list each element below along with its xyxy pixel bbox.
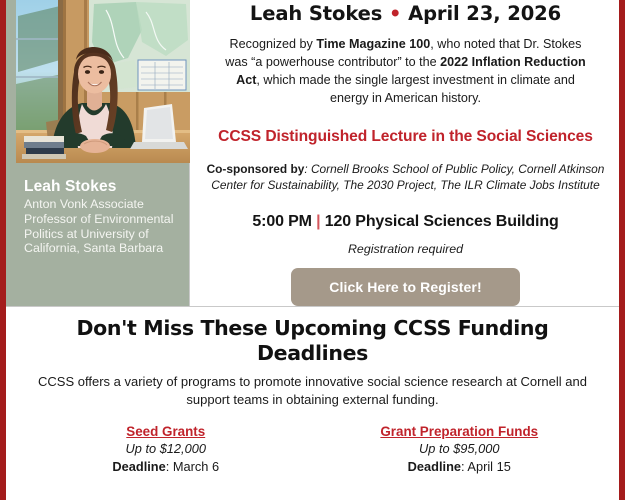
event-headline: Leah Stokes • April 23, 2026 (202, 2, 609, 26)
grant-link[interactable]: Seed Grants (22, 423, 310, 440)
register-button[interactable]: Click Here to Register! (291, 268, 519, 306)
grant-deadline-label: Deadline (112, 459, 165, 474)
cosponsor-label: Co-sponsored by (207, 162, 305, 176)
event-headline-name: Leah Stokes (250, 2, 382, 25)
speaker-info: Leah Stokes Anton Vonk Associate Profess… (24, 178, 184, 256)
grant-link[interactable]: Grant Preparation Funds (316, 423, 604, 440)
grant-deadline-value: : March 6 (166, 459, 219, 474)
funding-grid: Seed Grants Up to $12,000 Deadline: Marc… (22, 423, 603, 500)
lecture-series-title: CCSS Distinguished Lecture in the Social… (202, 128, 609, 146)
speaker-name: Leah Stokes (24, 178, 184, 196)
grant-deadline-label: Deadline (408, 459, 461, 474)
desc-part: Recognized by (230, 37, 317, 51)
cosponsor-line: Co-sponsored by: Cornell Brooks School o… (204, 162, 607, 194)
event-details: Leah Stokes • April 23, 2026 Recognized … (190, 0, 619, 306)
grant-item: Grant Preparation Funds Up to $95,000 De… (316, 423, 604, 475)
funding-title: Don't Miss These Upcoming CCSS Funding D… (22, 316, 603, 365)
newsletter-page: Leah Stokes Anton Vonk Associate Profess… (0, 0, 625, 500)
event-headline-date: April 23, 2026 (408, 2, 561, 25)
registration-note: Registration required (202, 242, 609, 256)
event-location: 120 Physical Sciences Building (325, 213, 559, 230)
speaker-photo (16, 0, 192, 163)
desc-part: , which made the single largest investme… (256, 73, 575, 105)
event-block: Leah Stokes Anton Vonk Associate Profess… (6, 0, 619, 306)
grant-deadline: Deadline: March 6 (22, 458, 310, 475)
speaker-title: Anton Vonk Associate Professor of Enviro… (24, 197, 184, 256)
event-time: 5:00 PM (252, 213, 311, 230)
grant-amount: Up to $95,000 (316, 440, 604, 457)
grant-amount: Up to $12,000 (22, 440, 310, 457)
funding-section: Don't Miss These Upcoming CCSS Funding D… (6, 307, 619, 500)
grant-deadline: Deadline: April 15 (316, 458, 604, 475)
register-button-wrap: Click Here to Register! (202, 268, 609, 306)
desc-part-bold: Time Magazine 100 (316, 37, 430, 51)
bullet-separator-icon: • (389, 2, 401, 25)
speaker-column: Leah Stokes Anton Vonk Associate Profess… (6, 0, 190, 306)
event-description: Recognized by Time Magazine 100, who not… (218, 36, 593, 108)
speaker-photo-image (16, 0, 192, 163)
pipe-separator-icon: | (316, 213, 320, 230)
event-time-location: 5:00 PM | 120 Physical Sciences Building (202, 213, 609, 231)
grant-item: Seed Grants Up to $12,000 Deadline: Marc… (22, 423, 310, 475)
funding-description: CCSS offers a variety of programs to pro… (36, 373, 589, 409)
grant-deadline-value: : April 15 (461, 459, 511, 474)
